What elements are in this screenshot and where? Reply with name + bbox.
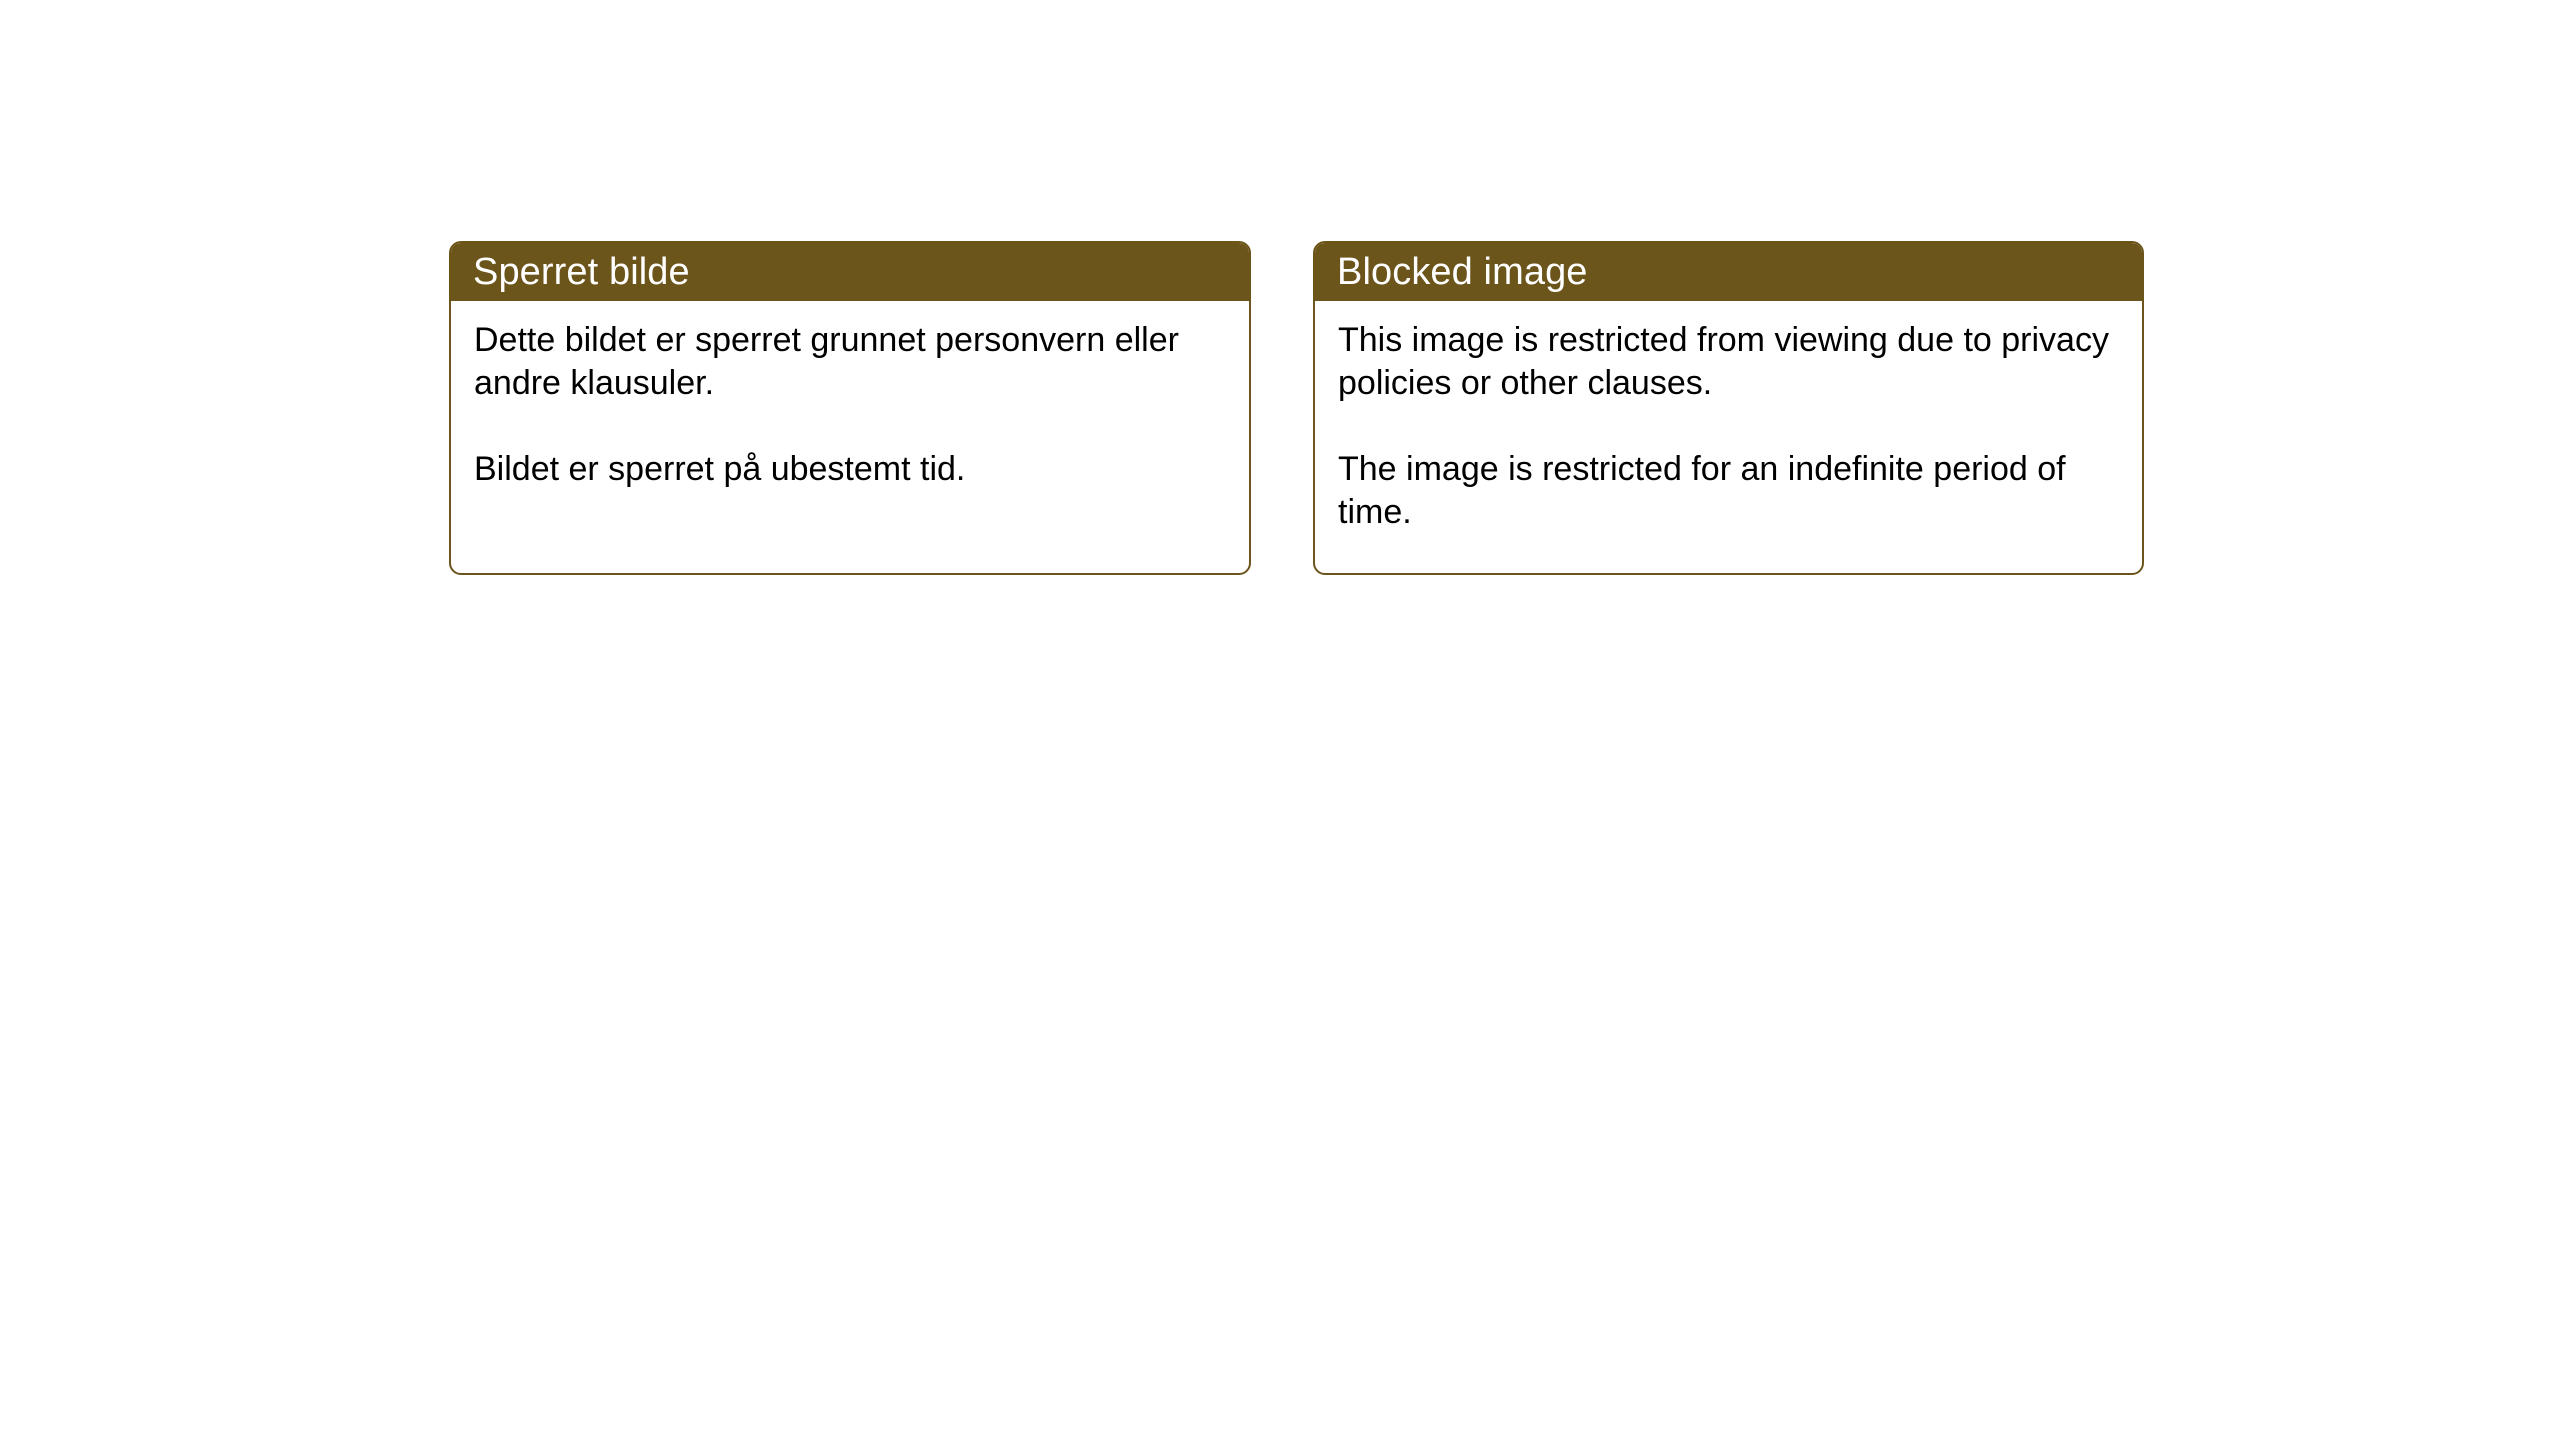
page-canvas: Sperret bilde Dette bildet er sperret gr… (0, 0, 2560, 1440)
notice-header-english: Blocked image (1315, 243, 2142, 301)
blocked-image-notice-norwegian: Sperret bilde Dette bildet er sperret gr… (449, 241, 1251, 575)
notice-body-norwegian: Dette bildet er sperret grunnet personve… (451, 301, 1249, 491)
notice-body-english: This image is restricted from viewing du… (1315, 301, 2142, 534)
notice-header-norwegian: Sperret bilde (451, 243, 1249, 301)
notice-paragraph-reason-norwegian: Dette bildet er sperret grunnet personve… (474, 319, 1233, 405)
notice-title-english: Blocked image (1337, 253, 1588, 291)
notice-paragraph-duration-english: The image is restricted for an indefinit… (1338, 448, 2126, 534)
notice-paragraph-duration-norwegian: Bildet er sperret på ubestemt tid. (474, 448, 1233, 491)
notice-title-norwegian: Sperret bilde (473, 253, 690, 291)
blocked-image-notice-english: Blocked image This image is restricted f… (1313, 241, 2144, 575)
notice-paragraph-reason-english: This image is restricted from viewing du… (1338, 319, 2126, 405)
